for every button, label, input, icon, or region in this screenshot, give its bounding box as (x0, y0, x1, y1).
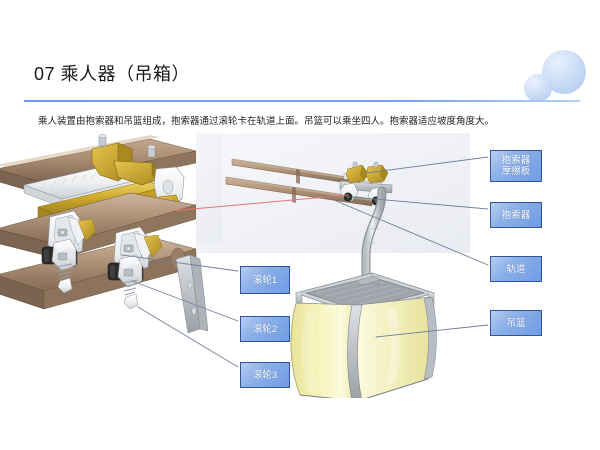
page-title: 07 乘人器（吊箱） (34, 60, 190, 86)
callout-guidao-label: 轨道 (506, 264, 525, 275)
callout-diaolan[interactable]: 吊篮 (490, 310, 542, 336)
callout-gunlun-2-label: 滚轮2 (253, 324, 277, 335)
callout-baosuoqi-mocaban-line2: 摩擦板 (502, 166, 531, 177)
callout-diaolan-label: 吊篮 (506, 318, 525, 329)
callout-gunlun-3[interactable]: 滚轮3 (240, 362, 290, 388)
support-post (176, 255, 208, 333)
title-divider (24, 100, 580, 102)
decorative-circle-small-icon (524, 74, 552, 102)
callout-gunlun-2[interactable]: 滚轮2 (240, 316, 290, 342)
callout-guidao[interactable]: 轨道 (490, 256, 542, 282)
slide-subtitle: 乘人装置由抱索器和吊篮组成，抱索器通过滚轮卡在轨道上面。吊篮可以乘坐四人。抱索器… (38, 115, 566, 129)
callout-baosuoqi[interactable]: 抱索器 (490, 202, 542, 228)
cabin-body (291, 297, 436, 398)
header-decoration (510, 42, 590, 104)
gripper-detail-assembly (0, 133, 222, 333)
callout-gunlun-1[interactable]: 滚轮1 (240, 266, 290, 294)
callout-baosuoqi-mocaban-line1: 抱索器 (502, 155, 531, 166)
callout-baosuoqi-label: 抱索器 (502, 210, 531, 221)
slide-root: 07 乘人器（吊箱） 乘人装置由抱索器和吊篮组成，抱索器通过滚轮卡在轨道上面。吊… (0, 0, 600, 450)
callout-baosuoqi-mocaban[interactable]: 抱索器 摩擦板 (490, 150, 542, 182)
callout-gunlun-3-label: 滚轮3 (253, 370, 277, 381)
callout-gunlun-1-label: 滚轮1 (253, 275, 277, 286)
